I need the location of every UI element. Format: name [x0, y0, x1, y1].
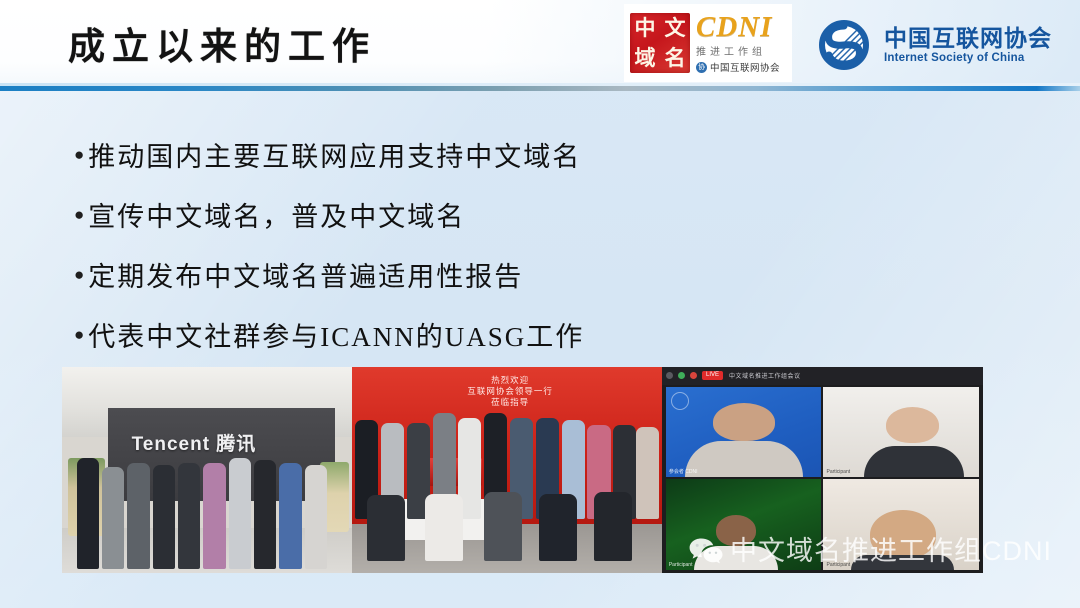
bullet-item-4: ● 代表中文社群参与ICANN的UASG工作	[74, 304, 974, 364]
participant-3-head	[716, 515, 756, 546]
bullet-item-1: ● 推动国内主要互联网应用支持中文域名	[74, 124, 974, 184]
participant-3-name: Participant	[669, 562, 693, 568]
isc-emblem-icon	[818, 19, 870, 71]
seal-char-1: 中	[630, 13, 660, 43]
presentation-slide: 成立以来的工作 中 文 域 名 CDNI 推进工作组 协 中国互联网协会	[0, 0, 1080, 608]
participant-2-name: Participant	[826, 469, 850, 475]
cdni-seal-icon: 中 文 域 名	[630, 13, 690, 73]
cdni-subtitle: 推进工作组	[696, 43, 780, 58]
photo-tencent-office: Tencent 腾讯	[62, 367, 352, 573]
bullet-marker-icon: ●	[74, 266, 84, 283]
bullet-item-2: ● 宣传中文域名，普及中文域名	[74, 184, 974, 244]
tencent-wall-logo: Tencent 腾讯	[132, 429, 257, 456]
bullet-marker-icon: ●	[74, 326, 84, 343]
participant-2-head	[886, 407, 939, 443]
header-divider	[0, 86, 1080, 91]
cdni-logo-text-block: CDNI 推进工作组 协 中国互联网协会	[696, 12, 780, 74]
mic-off-icon[interactable]	[690, 372, 697, 379]
banner-line-1: 热烈欢迎	[433, 375, 588, 386]
participant-2-body	[864, 446, 964, 477]
photo-video-conference: LIVE 中文域名推进工作组会议 参会者 CDNI Participant	[662, 367, 983, 573]
bullet-text-1: 推动国内主要互联网应用支持中文域名	[88, 135, 581, 174]
participant-tile-3[interactable]: Participant	[666, 479, 822, 570]
participant-4-head	[870, 510, 935, 559]
isc-name-en: Internet Society of China	[884, 51, 1052, 65]
cdni-org-line: 协 中国互联网协会	[696, 60, 780, 74]
isc-logo-text-block: 中国互联网协会 Internet Society of China	[884, 25, 1052, 65]
participant-4-body	[851, 555, 954, 570]
toolbar-dot-icon[interactable]	[666, 372, 673, 379]
bullet-list: ● 推动国内主要互联网应用支持中文域名 ● 宣传中文域名，普及中文域名 ● 定期…	[74, 124, 974, 364]
org-watermark-icon	[671, 392, 689, 410]
cdni-org-name: 中国互联网协会	[710, 60, 780, 74]
isc-small-badge-icon: 协	[696, 62, 707, 73]
seal-char-4: 名	[660, 43, 690, 73]
participant-3-body	[694, 546, 778, 570]
bullet-marker-icon: ●	[74, 146, 84, 163]
bullet-item-3: ● 定期发布中文域名普遍适用性报告	[74, 244, 974, 304]
participant-grid: 参会者 CDNI Participant Participant Partici…	[666, 387, 979, 570]
participant-1-head	[713, 403, 775, 441]
photo-b-front-row	[361, 486, 652, 560]
participant-tile-2[interactable]: Participant	[823, 387, 979, 478]
photo-red-backdrop-group: 热烈欢迎 互联网协会领导一行 莅临指导	[352, 367, 662, 573]
participant-4-name: Participant	[826, 562, 850, 568]
cdni-wordmark: CDNI	[696, 12, 780, 42]
participant-1-name: 参会者 CDNI	[669, 468, 698, 475]
photo-a-people-group	[77, 454, 344, 569]
photo-strip: Tencent 腾讯 热烈欢迎 互联网协会领导一行	[62, 367, 983, 573]
bullet-marker-icon: ●	[74, 206, 84, 223]
camera-on-icon[interactable]	[678, 372, 685, 379]
bullet-text-2: 宣传中文域名，普及中文域名	[88, 195, 465, 234]
bullet-text-4: 代表中文社群参与ICANN的UASG工作	[88, 315, 584, 354]
participant-1-body	[685, 441, 803, 477]
participant-tile-4[interactable]: Participant	[823, 479, 979, 570]
page-title: 成立以来的工作	[68, 16, 376, 70]
isc-logo: 中国互联网协会 Internet Society of China	[818, 17, 1068, 73]
banner-line-2: 互联网协会领导一行	[433, 386, 588, 397]
seal-char-2: 文	[660, 13, 690, 43]
meeting-title: 中文域名推进工作组会议	[729, 371, 801, 380]
live-badge: LIVE	[702, 371, 723, 380]
meeting-toolbar[interactable]: LIVE 中文域名推进工作组会议	[662, 367, 983, 385]
seal-char-3: 域	[630, 43, 660, 73]
cdni-logo: 中 文 域 名 CDNI 推进工作组 协 中国互联网协会	[624, 4, 792, 82]
participant-tile-1[interactable]: 参会者 CDNI	[666, 387, 822, 478]
isc-name-cn: 中国互联网协会	[884, 25, 1052, 51]
bullet-text-3: 定期发布中文域名普遍适用性报告	[88, 255, 523, 294]
